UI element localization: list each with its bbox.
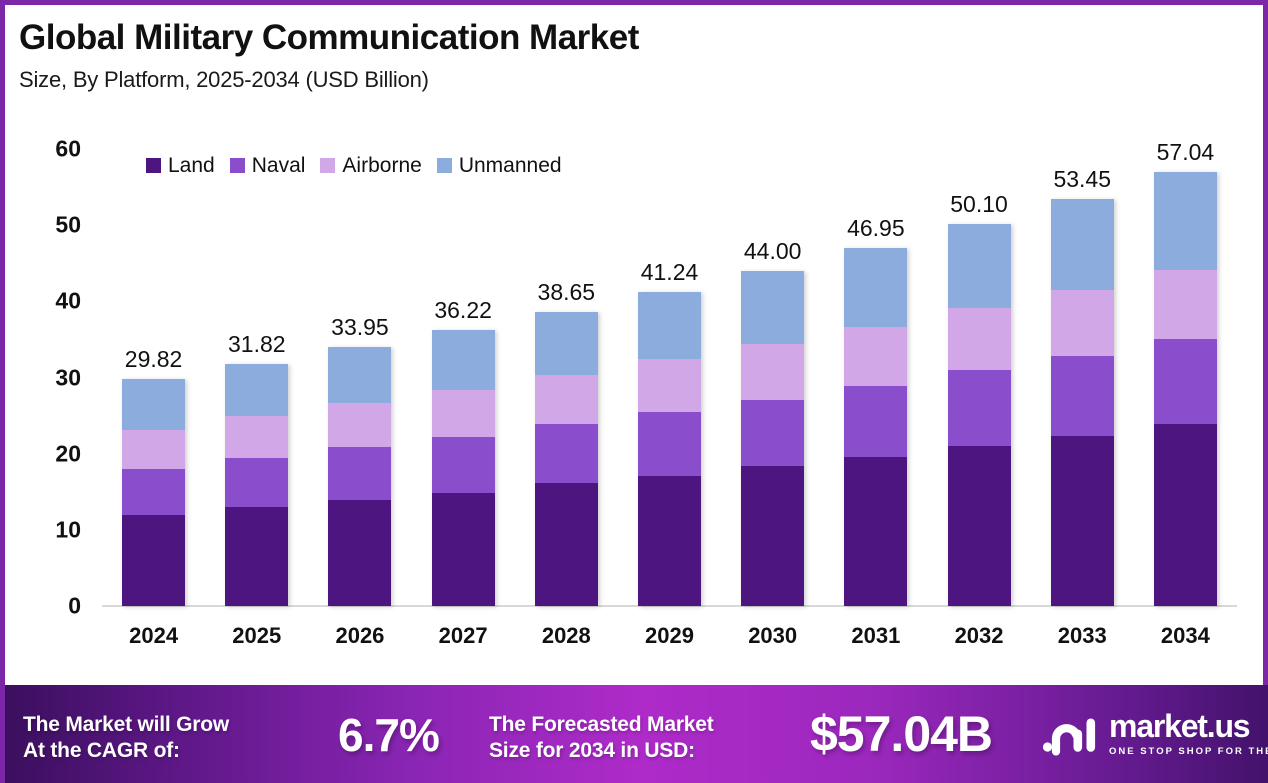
bar-group-2034[interactable] [1154, 149, 1217, 606]
bar-total-label: 29.82 [125, 346, 183, 373]
market-us-logo[interactable]: market.us ONE STOP SHOP FOR THE REPORTS [1042, 710, 1268, 757]
bar-group-2028[interactable] [535, 149, 598, 606]
bar-segment-airborne[interactable] [432, 390, 495, 437]
bar-segment-airborne[interactable] [225, 416, 288, 458]
bar-segment-airborne[interactable] [638, 359, 701, 412]
bar-group-2026[interactable] [328, 149, 391, 606]
bar-total-label: 44.00 [744, 238, 802, 265]
bar-segment-naval[interactable] [741, 400, 804, 467]
y-axis-tick-10: 10 [27, 516, 81, 543]
bar-segment-naval[interactable] [328, 447, 391, 500]
bar-total-label: 53.45 [1053, 166, 1111, 193]
y-axis-tick-30: 30 [27, 364, 81, 391]
bar-segment-naval[interactable] [122, 469, 185, 515]
bar-segment-airborne[interactable] [948, 308, 1011, 370]
bar-segment-unmanned[interactable] [948, 224, 1011, 307]
bar-segment-unmanned[interactable] [328, 347, 391, 403]
bar-segment-airborne[interactable] [1051, 290, 1114, 356]
cagr-value: 6.7% [338, 708, 439, 762]
page-title: Global Military Communication Market [19, 19, 1249, 58]
bar-segment-unmanned[interactable] [638, 292, 701, 359]
x-axis-label-2026: 2026 [308, 623, 411, 649]
x-axis-label-2031: 2031 [824, 623, 927, 649]
x-axis-label-2028: 2028 [515, 623, 618, 649]
bar-group-2025[interactable] [225, 149, 288, 606]
forecast-label-line2: Size for 2034 in USD: [489, 738, 714, 764]
bar-segment-land[interactable] [1154, 424, 1217, 606]
bar-segment-unmanned[interactable] [844, 248, 907, 326]
bar-segment-land[interactable] [1051, 436, 1114, 606]
forecast-label: The Forecasted Market Size for 2034 in U… [489, 712, 714, 763]
bar-segment-land[interactable] [638, 476, 701, 606]
bar-segment-naval[interactable] [535, 424, 598, 483]
y-axis-tick-40: 40 [27, 288, 81, 315]
cagr-label-line2: At the CAGR of: [23, 738, 229, 764]
bar-segment-land[interactable] [948, 446, 1011, 606]
plot-area: 29.8231.8233.9536.2238.6541.2444.0046.95… [102, 149, 1237, 606]
bar-segment-naval[interactable] [1051, 356, 1114, 436]
bar-segment-naval[interactable] [432, 437, 495, 493]
bar-segment-land[interactable] [328, 500, 391, 606]
bar-segment-unmanned[interactable] [122, 379, 185, 430]
bar-segment-unmanned[interactable] [1051, 199, 1114, 290]
bar-total-label: 41.24 [641, 259, 699, 286]
bar-segment-airborne[interactable] [1154, 270, 1217, 339]
logo-tagline: ONE STOP SHOP FOR THE REPORTS [1109, 746, 1268, 757]
infographic-root: Global Military Communication Market Siz… [0, 0, 1268, 783]
bar-group-2024[interactable] [122, 149, 185, 606]
y-axis-tick-60: 60 [27, 136, 81, 163]
bar-segment-land[interactable] [535, 483, 598, 606]
bar-segment-land[interactable] [844, 457, 907, 606]
bar-group-2029[interactable] [638, 149, 701, 606]
logo-wordmark: market.us [1109, 710, 1268, 742]
forecast-value: $57.04B [810, 705, 992, 763]
bar-segment-unmanned[interactable] [432, 330, 495, 390]
market-us-logo-icon [1042, 711, 1098, 756]
y-axis-tick-0: 0 [27, 593, 81, 620]
bar-group-2030[interactable] [741, 149, 804, 606]
bar-segment-airborne[interactable] [122, 430, 185, 469]
chart-subtitle: Size, By Platform, 2025-2034 (USD Billio… [19, 67, 1249, 93]
bar-segment-naval[interactable] [844, 386, 907, 458]
bar-segment-airborne[interactable] [535, 375, 598, 424]
bar-segment-land[interactable] [225, 507, 288, 606]
header: Global Military Communication Market Siz… [19, 19, 1249, 93]
bar-segment-unmanned[interactable] [535, 312, 598, 375]
bar-group-2027[interactable] [432, 149, 495, 606]
x-axis-label-2030: 2030 [721, 623, 824, 649]
bar-segment-naval[interactable] [638, 412, 701, 476]
logo-text-block: market.us ONE STOP SHOP FOR THE REPORTS [1109, 710, 1268, 757]
bar-group-2033[interactable] [1051, 149, 1114, 606]
bar-segment-land[interactable] [432, 493, 495, 606]
bar-segment-naval[interactable] [225, 458, 288, 508]
cagr-label: The Market will Grow At the CAGR of: [23, 712, 229, 763]
bar-segment-airborne[interactable] [328, 403, 391, 446]
y-axis-tick-20: 20 [27, 440, 81, 467]
bar-total-label: 31.82 [228, 331, 286, 358]
x-axis-label-2029: 2029 [618, 623, 721, 649]
x-axis-label-2025: 2025 [205, 623, 308, 649]
x-axis-label-2027: 2027 [412, 623, 515, 649]
x-axis-label-2033: 2033 [1031, 623, 1134, 649]
bar-total-label: 36.22 [434, 297, 492, 324]
y-axis: 0102030405060 [27, 149, 81, 606]
bar-segment-land[interactable] [741, 466, 804, 606]
bar-segment-unmanned[interactable] [1154, 172, 1217, 271]
x-axis-label-2032: 2032 [927, 623, 1030, 649]
bar-total-label: 33.95 [331, 314, 389, 341]
cagr-label-line1: The Market will Grow [23, 712, 229, 738]
bar-total-label: 50.10 [950, 191, 1008, 218]
bar-segment-airborne[interactable] [741, 344, 804, 400]
forecast-label-line1: The Forecasted Market [489, 712, 714, 738]
bar-total-label: 38.65 [538, 279, 596, 306]
bar-segment-unmanned[interactable] [741, 271, 804, 344]
bar-total-label: 46.95 [847, 215, 905, 242]
bar-segment-land[interactable] [122, 515, 185, 606]
bar-segment-airborne[interactable] [844, 327, 907, 386]
bar-segment-naval[interactable] [948, 370, 1011, 446]
bar-segment-unmanned[interactable] [225, 364, 288, 416]
bar-segment-naval[interactable] [1154, 339, 1217, 424]
bar-total-label: 57.04 [1157, 139, 1215, 166]
x-axis-label-2024: 2024 [102, 623, 205, 649]
x-axis-label-2034: 2034 [1134, 623, 1237, 649]
y-axis-tick-50: 50 [27, 212, 81, 239]
